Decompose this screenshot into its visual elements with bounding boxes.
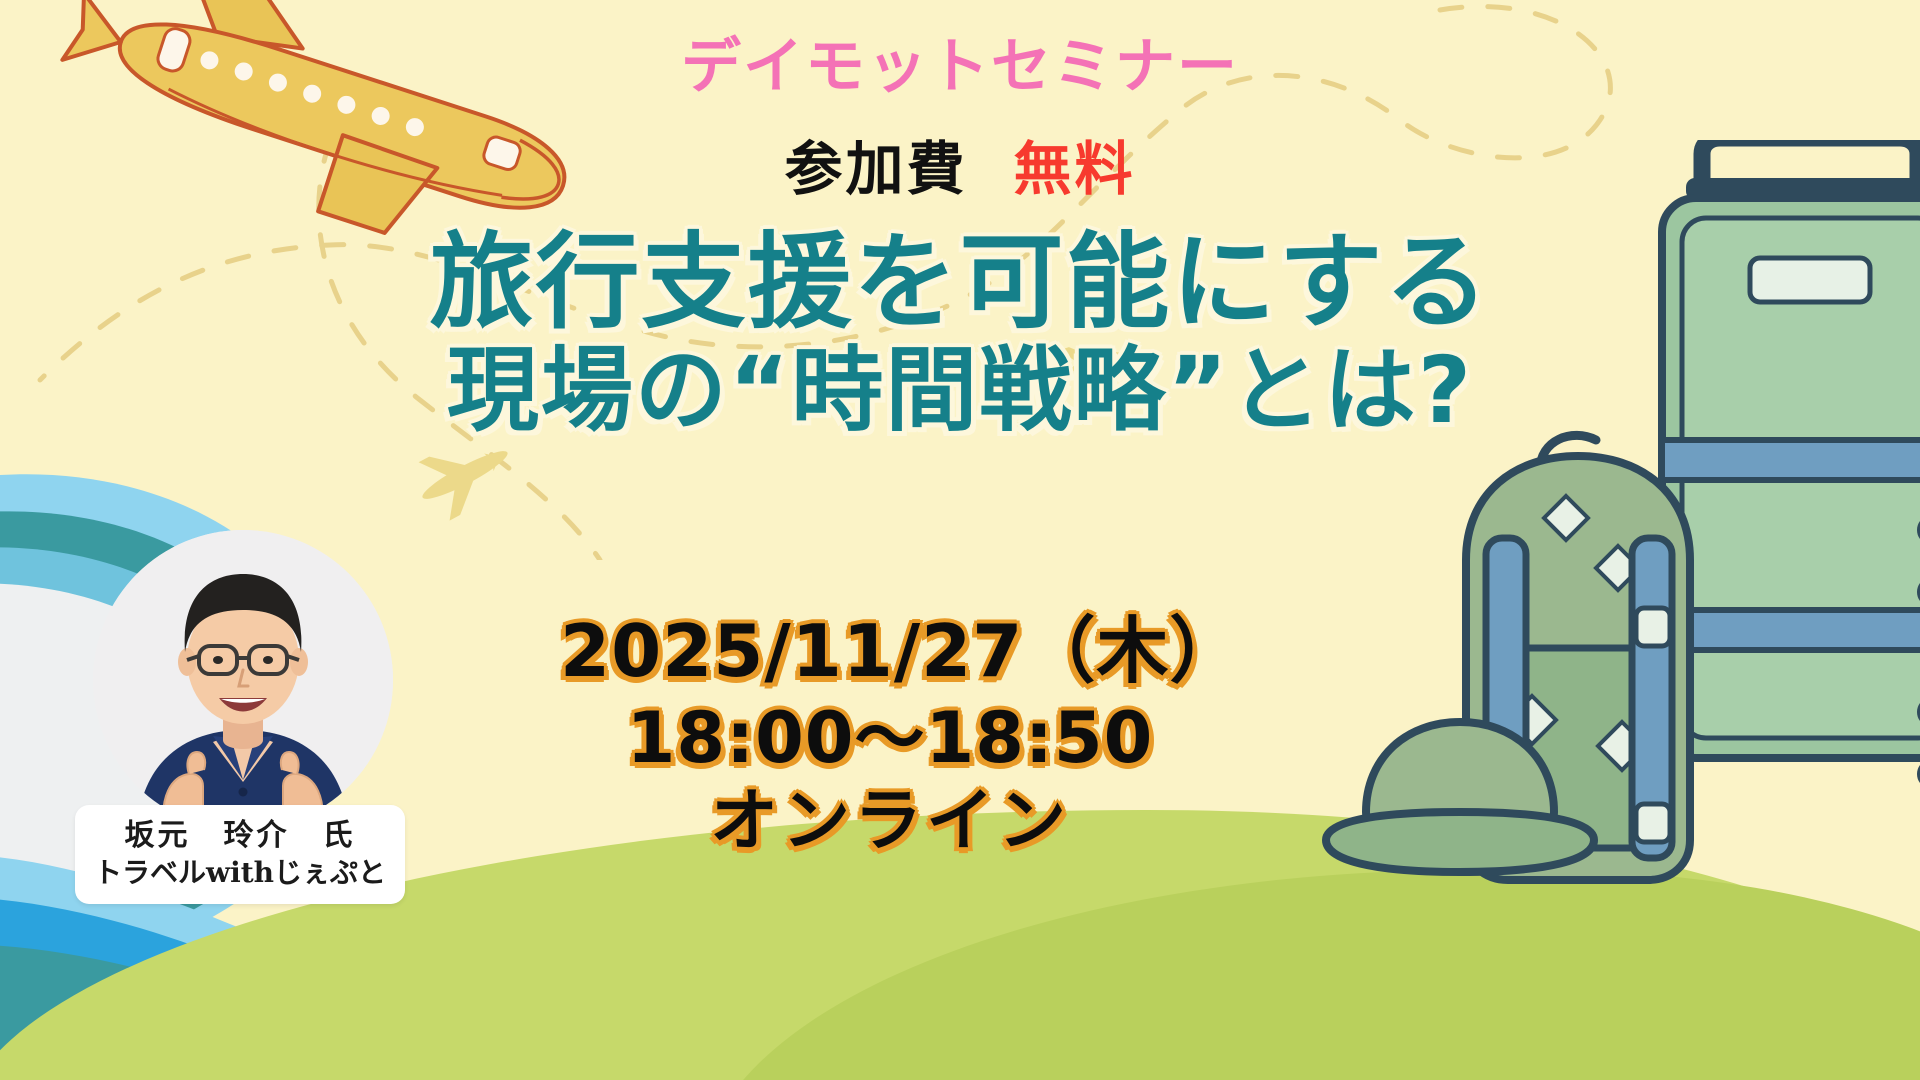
fee-label: 参加費 [784,122,967,206]
avatar: P-BASE [93,530,393,830]
poster-canvas: デイモットセミナー 参加費 無料 旅行支援を可能にする 現場の“時間戦略”とは?… [0,0,1920,1080]
page-kicker: デイモットセミナー [0,18,1920,105]
event-date: 2025/11/27（木） [560,608,1220,696]
speaker-organization: トラベルwithじぇぷと [85,855,395,890]
event-time: 18:00〜18:50 [560,696,1220,781]
title-line-2: 現場の“時間戦略”とは? [0,337,1920,446]
speaker-name: 坂元 玲介 氏 [85,817,395,855]
fee-value: 無料 [1014,122,1136,206]
fee-row: 参加費 無料 [0,122,1920,206]
speaker-block: P-BASE 坂元 玲介 氏 トラベルwithじぇぷと [75,530,405,890]
event-info: 2025/11/27（木） 18:00〜18:50 オンライン [560,608,1220,864]
event-venue: オンライン [560,781,1220,864]
page-title: 旅行支援を可能にする 現場の“時間戦略”とは? [0,222,1920,445]
speaker-nameplate: 坂元 玲介 氏 トラベルwithじぇぷと [75,805,405,904]
title-line-1: 旅行支援を可能にする [0,222,1920,343]
